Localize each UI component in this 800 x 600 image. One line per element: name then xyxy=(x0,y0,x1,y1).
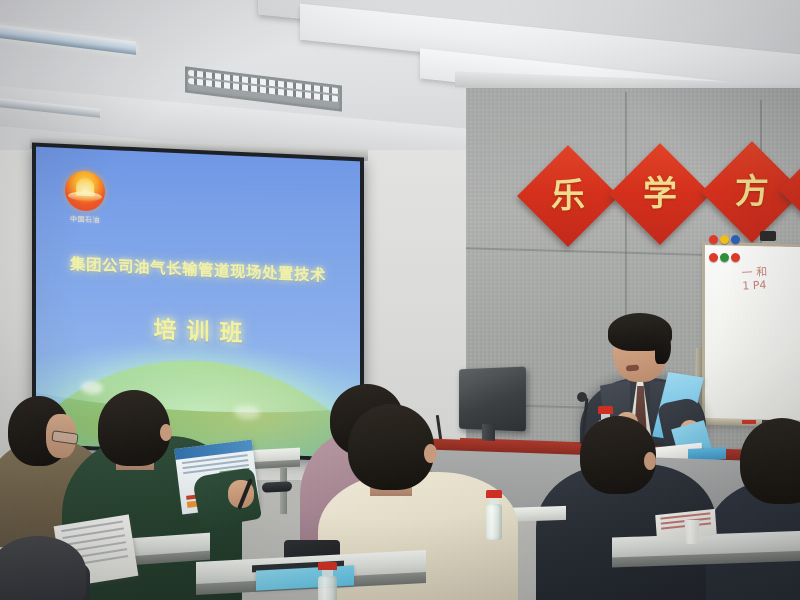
attendee-ear xyxy=(424,444,437,463)
whiteboard-magnets[interactable] xyxy=(708,232,766,254)
banner-character: 方 xyxy=(735,175,769,209)
bottle-body xyxy=(486,504,502,540)
water-bottle[interactable] xyxy=(486,490,502,540)
mobile-phone[interactable] xyxy=(262,481,292,493)
whiteboard-clip[interactable] xyxy=(760,231,776,241)
bottle-cap xyxy=(598,406,613,414)
attendee-cream-jacket-head xyxy=(348,404,434,490)
petrochina-logo: 中国石油 xyxy=(56,170,114,227)
slide-title: 集团公司油气长输管道现场处置技术 xyxy=(36,251,360,288)
bottle-body xyxy=(318,576,337,600)
water-bottle[interactable] xyxy=(318,562,337,600)
banner-character: 乐 xyxy=(551,179,585,213)
presenter-hair-side xyxy=(655,330,671,364)
whiteboard-writing: 一 和 1 P4 xyxy=(741,265,768,292)
attendee-ear xyxy=(644,452,656,470)
attendee-green-sweater-head xyxy=(98,390,170,466)
red-marker-icon[interactable] xyxy=(742,420,756,424)
conference-room-photo: 乐 学 方 一 和 1 P4 中国石油 集团公司油气长输管道现 xyxy=(0,0,800,600)
projection-screen: 中国石油 集团公司油气长输管道现场处置技术 培训班 xyxy=(32,142,364,462)
bottle-cap xyxy=(486,490,502,498)
petrochina-sun-icon xyxy=(65,170,105,212)
logo-text: 中国石油 xyxy=(56,214,114,227)
lcd-monitor[interactable] xyxy=(459,367,526,432)
bottle-cap xyxy=(318,562,337,570)
microphone-head-icon xyxy=(577,392,587,402)
banner-character: 学 xyxy=(643,177,677,211)
attendee-ear xyxy=(160,424,172,441)
projected-slide: 中国石油 集团公司油气长输管道现场处置技术 培训班 xyxy=(36,147,360,459)
whiteboard-line-2: 1 P4 xyxy=(742,278,768,292)
